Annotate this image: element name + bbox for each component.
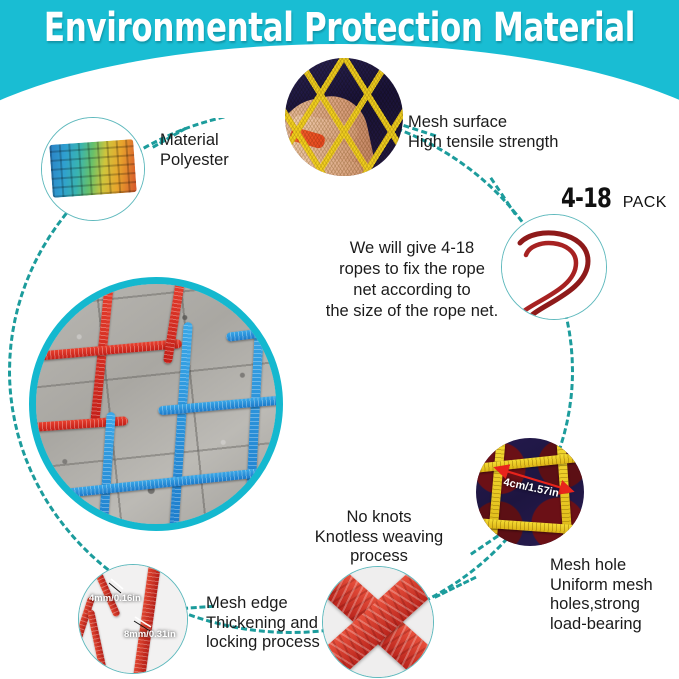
pack-count: 4-18 [561, 183, 611, 214]
photo-main-net [29, 277, 283, 531]
swatch-net-texture [49, 140, 136, 199]
page-title: Environmental Protection Material [48, 0, 632, 56]
photo-mesh-hole: 4cm/1.57in [476, 438, 584, 546]
measure-rope-thin: 4mm/0.16in [89, 593, 141, 604]
pack-word: PACK [623, 194, 667, 212]
center-description: We will give 4-18 ropes to fix the rope … [312, 238, 512, 322]
photo-mesh-edge: 4mm/0.16in 8mm/0.31in [78, 564, 188, 674]
photo-rope-coil [501, 214, 607, 320]
label-no-knots: No knots Knotless weaving process [296, 508, 462, 567]
photo-material-swatch [41, 117, 145, 221]
label-material: Material Polyester [160, 131, 320, 170]
rope-coil-illustration [502, 215, 607, 320]
label-mesh-surface: Mesh surface High tensile strength [408, 113, 618, 152]
label-mesh-edge: Mesh edge Thickening and locking process [206, 594, 386, 653]
infographic-canvas: Material Polyester Mesh surface High ten… [0, 0, 679, 679]
measure-rope-thick: 8mm/0.31in [124, 629, 176, 640]
pack-badge: 4-18 PACK [561, 183, 667, 214]
edge-measure-arrows [79, 565, 188, 674]
label-mesh-hole: Mesh hole Uniform mesh holes,strong load… [550, 556, 679, 634]
